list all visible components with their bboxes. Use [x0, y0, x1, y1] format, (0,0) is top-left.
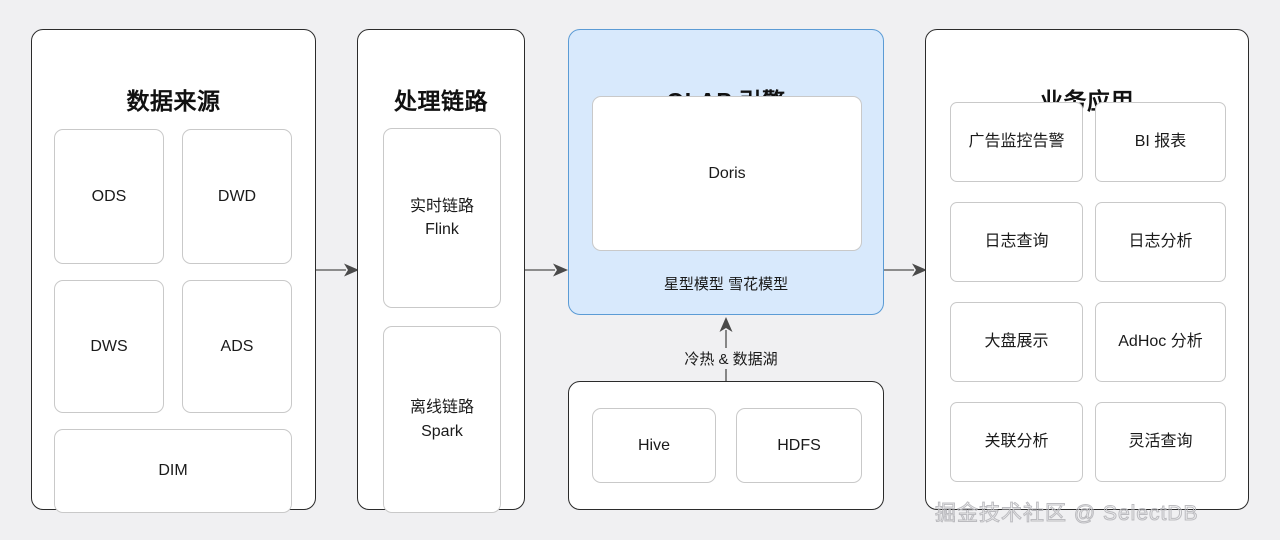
card-dws[interactable]: DWS [54, 280, 164, 413]
card-correlation-analysis[interactable]: 关联分析 [950, 402, 1083, 482]
card-label: ODS [92, 185, 127, 208]
olap-models-note: 星型模型 雪花模型 [569, 273, 883, 294]
card-label: 关联分析 [984, 430, 1048, 453]
edge-label-lake-to-olap: 冷热 & 数据湖 [663, 348, 799, 369]
arrow-olap-to-applications [884, 262, 928, 278]
panel-title-pipeline: 处理链路 [358, 82, 524, 116]
card-label: DWD [218, 185, 256, 208]
arrow-source-to-pipeline [316, 262, 360, 278]
card-bi-report[interactable]: BI 报表 [1095, 102, 1226, 182]
card-label: HDFS [777, 434, 821, 457]
card-ad-monitor-alert[interactable]: 广告监控告警 [950, 102, 1083, 182]
panel-applications: 业务应用 广告监控告警 BI 报表 日志查询 日志分析 大盘展示 AdHoc 分… [925, 29, 1249, 510]
card-label: Doris [708, 162, 745, 185]
card-hive[interactable]: Hive [592, 408, 716, 483]
panel-data-source: 数据来源 ODS DWD DWS ADS DIM [31, 29, 316, 510]
card-label: DIM [158, 459, 187, 482]
panel-olap-engine: OLAP 引擎 Doris 星型模型 雪花模型 [568, 29, 884, 315]
card-label-line2: Spark [421, 420, 463, 443]
card-label: 大盘展示 [984, 330, 1048, 353]
card-dashboard[interactable]: 大盘展示 [950, 302, 1083, 382]
card-adhoc-analysis[interactable]: AdHoc 分析 [1095, 302, 1226, 382]
card-label: BI 报表 [1135, 130, 1187, 153]
card-ads[interactable]: ADS [182, 280, 292, 413]
card-realtime-pipeline[interactable]: 实时链路 Flink [383, 128, 501, 308]
card-ods[interactable]: ODS [54, 129, 164, 264]
card-label-line2: Flink [425, 218, 459, 241]
card-offline-pipeline[interactable]: 离线链路 Spark [383, 326, 501, 513]
card-label: AdHoc 分析 [1118, 330, 1202, 353]
card-label: 日志查询 [984, 230, 1048, 253]
card-label-line1: 离线链路 [410, 396, 474, 419]
diagram-canvas: 数据来源 ODS DWD DWS ADS DIM 处理链路 实时链路 Flink… [0, 0, 1280, 540]
card-flexible-query[interactable]: 灵活查询 [1095, 402, 1226, 482]
panel-data-lake: Hive HDFS [568, 381, 884, 510]
card-hdfs[interactable]: HDFS [736, 408, 862, 483]
card-label: Hive [638, 434, 670, 457]
card-log-query[interactable]: 日志查询 [950, 202, 1083, 282]
card-label: 广告监控告警 [968, 130, 1064, 153]
card-label: 日志分析 [1128, 230, 1192, 253]
card-label: DWS [90, 335, 127, 358]
card-dim[interactable]: DIM [54, 429, 292, 513]
panel-title-data-source: 数据来源 [32, 82, 315, 116]
watermark: 掘金技术社区 @ SelectDB [935, 497, 1199, 527]
card-doris[interactable]: Doris [592, 96, 862, 251]
card-dwd[interactable]: DWD [182, 129, 292, 264]
panel-pipeline: 处理链路 实时链路 Flink 离线链路 Spark [357, 29, 525, 510]
arrow-pipeline-to-olap [525, 262, 569, 278]
card-label-line1: 实时链路 [410, 195, 474, 218]
card-label: 灵活查询 [1128, 430, 1192, 453]
card-label: ADS [221, 335, 254, 358]
card-log-analysis[interactable]: 日志分析 [1095, 202, 1226, 282]
